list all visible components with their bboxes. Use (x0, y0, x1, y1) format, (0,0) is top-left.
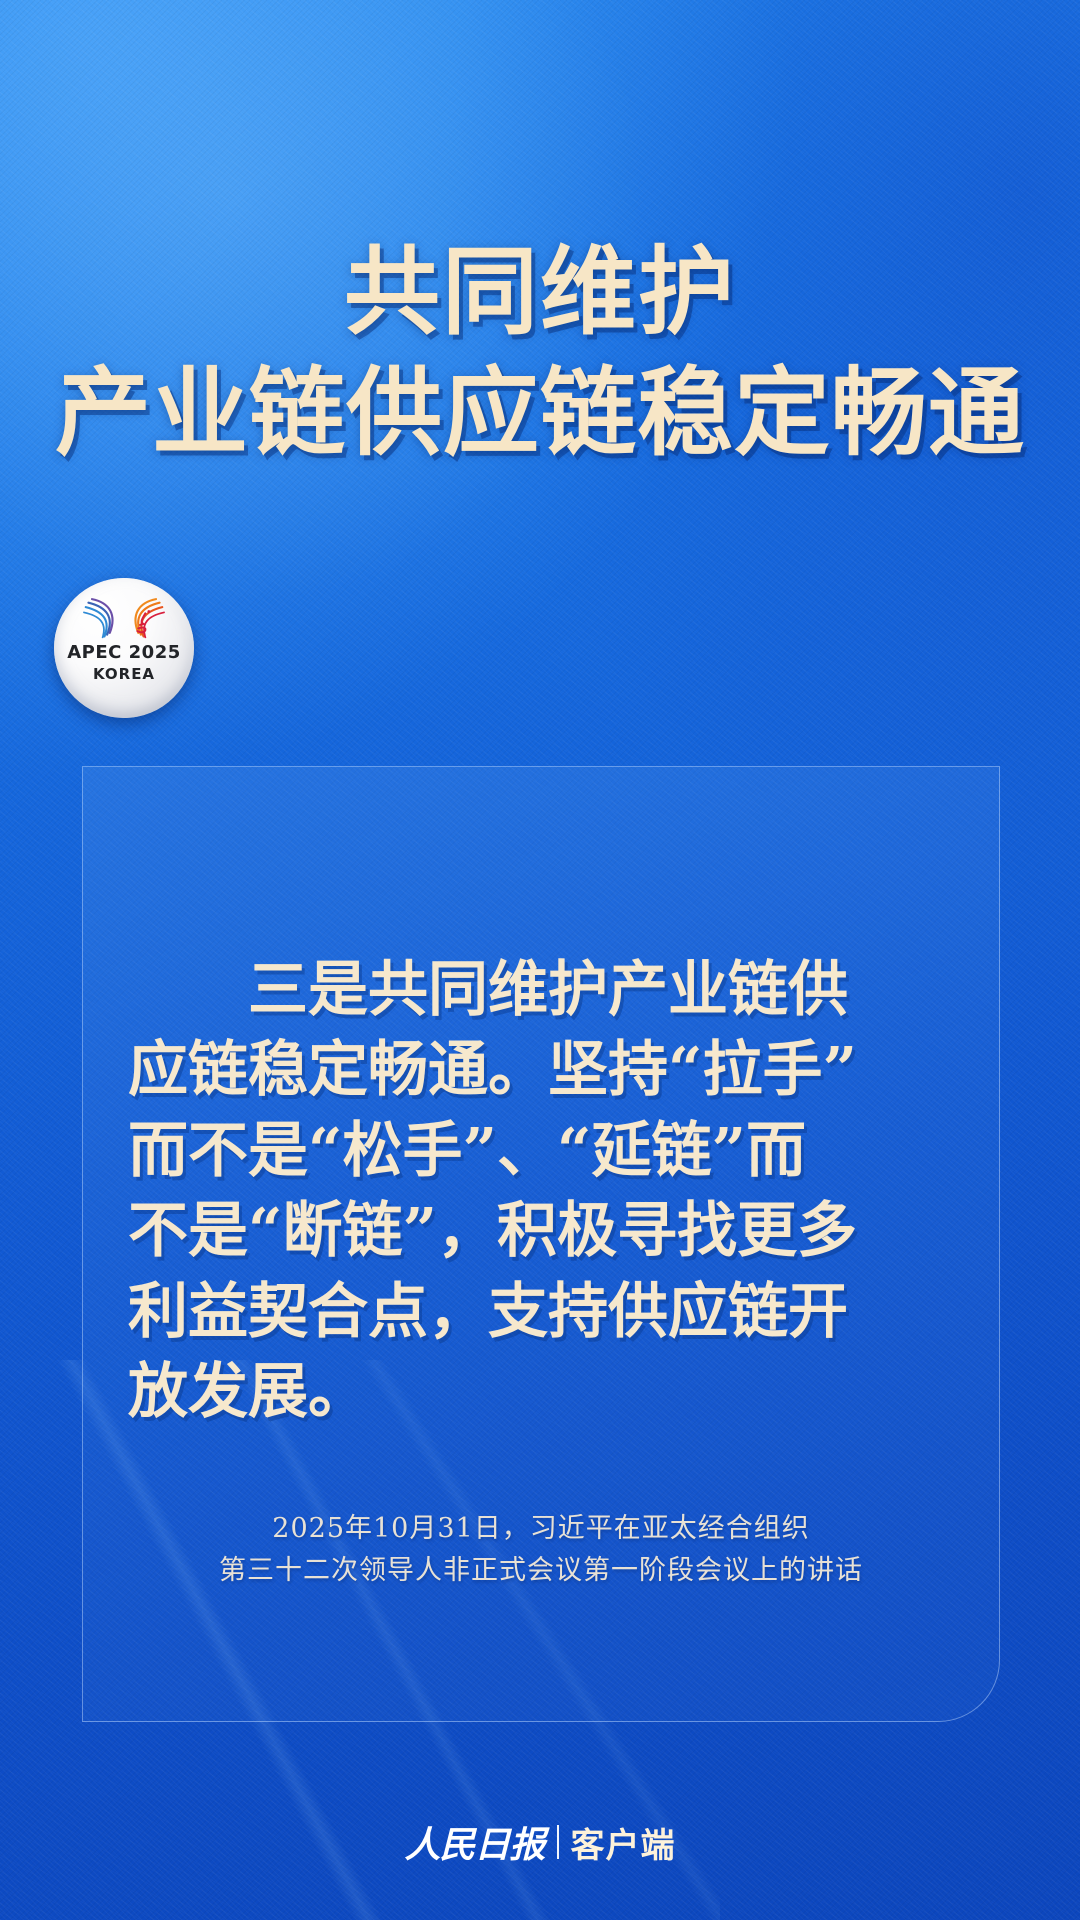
quote-line: 放发展。 (128, 1352, 828, 1432)
publisher-brand: 人民日报 (404, 1816, 544, 1868)
publisher-footer: 人民日报 客户端 (0, 1816, 1080, 1868)
apec-badge-disc: APEC 2025 KOREA (54, 578, 194, 718)
quote-line: 利益契合点，支持供应链开 (128, 1272, 828, 1352)
apec-badge-host: KOREA (93, 667, 155, 682)
poster-title: 共同维护 产业链供应链稳定畅通 (0, 236, 1080, 471)
quote-line: 应链稳定畅通。坚持“拉手” (128, 1030, 828, 1110)
poster-canvas: 共同维护 产业链供应链稳定畅通 (0, 0, 1080, 1920)
footer-divider (557, 1825, 559, 1859)
apec-badge: APEC 2025 KOREA (54, 578, 194, 718)
quote-line: 而不是“松手”、“延链”而 (128, 1111, 828, 1191)
publisher-app-name: 客户端 (571, 1818, 676, 1867)
apec-face-logo-icon (78, 592, 170, 640)
title-line-2: 产业链供应链稳定畅通 (0, 357, 1080, 470)
title-line-1: 共同维护 (0, 236, 1080, 349)
attribution-line-2: 第三十二次领导人非正式会议第一阶段会议上的讲话 (82, 1550, 1000, 1592)
attribution-line-1: 2025年10月31日，习近平在亚太经合组织 (82, 1508, 1000, 1550)
apec-badge-name: APEC 2025 (67, 644, 181, 662)
quote-line: 三是共同维护产业链供 (128, 950, 828, 1030)
quote-attribution: 2025年10月31日，习近平在亚太经合组织 第三十二次领导人非正式会议第一阶段… (82, 1508, 1000, 1592)
quote-text: 三是共同维护产业链供 应链稳定畅通。坚持“拉手” 而不是“松手”、“延链”而 不… (128, 950, 828, 1432)
quote-line: 不是“断链”，积极寻找更多 (128, 1191, 828, 1271)
